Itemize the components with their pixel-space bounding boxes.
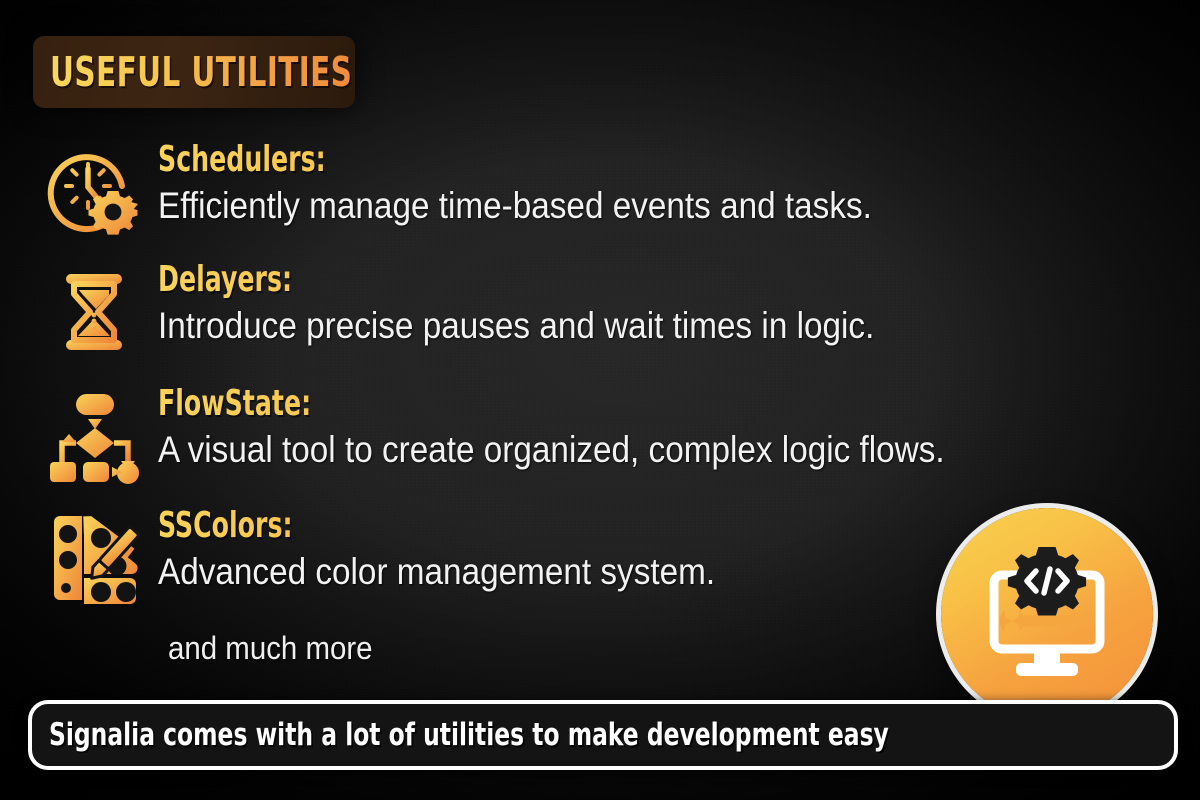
feature-heading: SSColors: xyxy=(158,508,641,544)
feature-row-schedulers: Schedulers: Efficiently manage time-base… xyxy=(40,142,951,242)
flowchart-icon xyxy=(40,386,148,486)
banner-text: Signalia comes with a lot of utilities t… xyxy=(49,720,889,751)
feature-heading: FlowState: xyxy=(158,386,840,422)
feature-text-schedulers: Schedulers: Efficiently manage time-base… xyxy=(148,142,951,226)
and-much-more-text: and much more xyxy=(168,632,373,664)
slide-title-badge: USEFUL UTILITIES xyxy=(33,36,355,108)
clock-gear-icon xyxy=(40,142,148,242)
feature-description: Efficiently manage time-based events and… xyxy=(158,187,872,226)
color-palette-brush-icon xyxy=(40,508,148,608)
feature-heading: Delayers: xyxy=(158,262,779,298)
feature-description: A visual tool to create organized, compl… xyxy=(158,431,945,470)
bottom-banner: Signalia comes with a lot of utilities t… xyxy=(28,700,1178,770)
feature-row-delayers: Delayers: Introduce precise pauses and w… xyxy=(40,262,954,362)
feature-heading: Schedulers: xyxy=(158,142,777,178)
feature-text-sscolors: SSColors: Advanced color management syst… xyxy=(148,508,777,592)
hourglass-icon xyxy=(40,262,148,362)
signalia-logo-badge xyxy=(941,508,1153,720)
feature-description: Introduce precise pauses and wait times … xyxy=(158,307,874,346)
slide-canvas: USEFUL UTILITIES xyxy=(0,0,1200,800)
feature-text-delayers: Delayers: Introduce precise pauses and w… xyxy=(148,262,954,346)
feature-row-sscolors: SSColors: Advanced color management syst… xyxy=(40,508,777,608)
feature-description: Advanced color management system. xyxy=(158,553,715,592)
monitor-gear-wrench-icon xyxy=(972,539,1122,689)
page-title: USEFUL UTILITIES xyxy=(50,52,352,93)
feature-text-flowstate: FlowState: A visual tool to create organ… xyxy=(148,386,1032,470)
feature-row-flowstate: FlowState: A visual tool to create organ… xyxy=(40,386,1032,486)
